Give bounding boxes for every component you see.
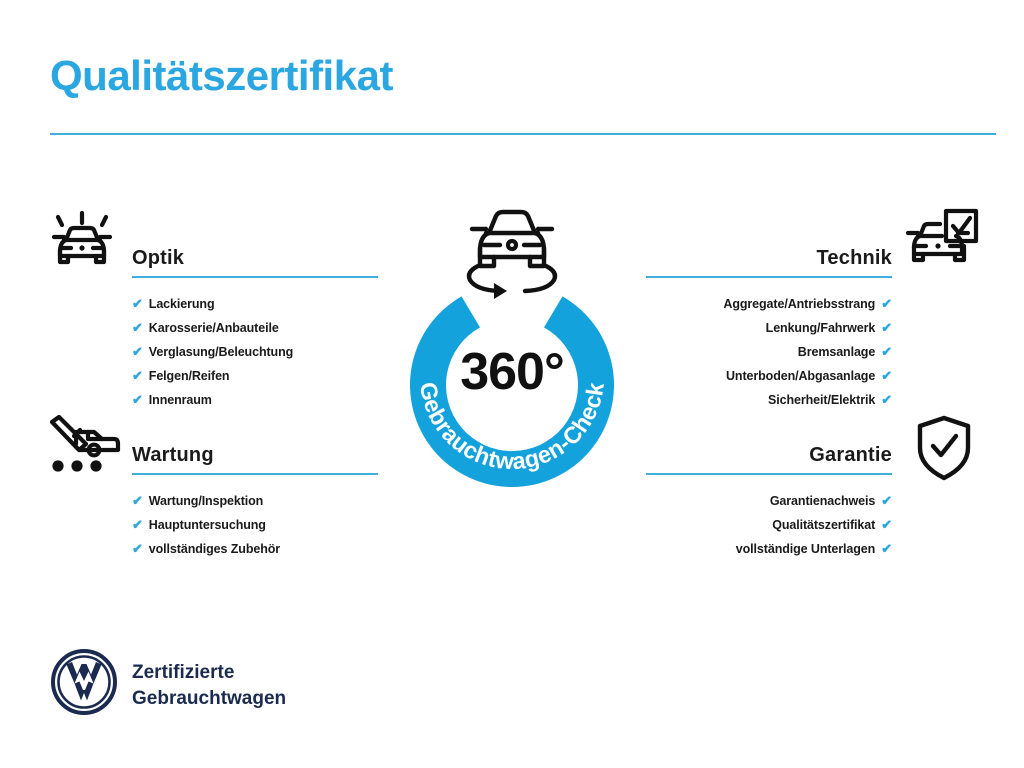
section-heading: Technik <box>817 247 893 270</box>
car-shine-icon <box>46 206 118 283</box>
section-divider <box>132 473 378 475</box>
check-icon: ✔ <box>881 296 892 311</box>
check-icon: ✔ <box>132 541 143 556</box>
volkswagen-logo <box>50 648 118 716</box>
brand-text: Zertifizierte Gebrauchtwagen <box>132 660 286 712</box>
check-icon: ✔ <box>881 517 892 532</box>
list-item-label: Garantienachweis <box>770 494 875 508</box>
list-item-label: Innenraum <box>149 393 212 407</box>
section-heading: Garantie <box>809 444 892 467</box>
check-icon: ✔ <box>132 296 143 311</box>
list-item-label: Qualitätszertifikat <box>772 518 875 532</box>
section-header: Optik <box>132 240 378 270</box>
list-item: Qualitätszertifikat✔ <box>646 513 892 537</box>
list-item-label: Wartung/Inspektion <box>149 494 263 508</box>
section-heading: Optik <box>132 247 184 270</box>
check-icon: ✔ <box>881 368 892 383</box>
section-divider <box>132 276 378 278</box>
list-item: ✔Hauptuntersuchung <box>132 513 378 537</box>
list-item-label: Verglasung/Beleuchtung <box>149 345 293 359</box>
section-header: Wartung <box>132 437 378 467</box>
brand-line-2: Gebrauchtwagen <box>132 686 286 712</box>
section-optik: Optik ✔Lackierung ✔Karosserie/Anbauteile… <box>132 240 378 412</box>
section-divider <box>646 473 892 475</box>
list-item: ✔Verglasung/Beleuchtung <box>132 340 378 364</box>
check-icon: ✔ <box>132 517 143 532</box>
list-item-label: Lackierung <box>149 297 215 311</box>
list-item: ✔Lackierung <box>132 292 378 316</box>
list-item: ✔Innenraum <box>132 388 378 412</box>
360-check-badge: Gebrauchtwagen-Check 360° <box>382 196 642 496</box>
section-header: Garantie <box>646 437 892 467</box>
check-icon: ✔ <box>132 392 143 407</box>
list-item: Sicherheit/Elektrik✔ <box>646 388 892 412</box>
list-item-label: Felgen/Reifen <box>149 369 230 383</box>
shield-check-icon <box>914 414 974 487</box>
list-item-label: vollständiges Zubehör <box>149 542 280 556</box>
check-icon: ✔ <box>881 493 892 508</box>
brand-line-1: Zertifizierte <box>132 660 286 686</box>
list-item: vollständige Unterlagen✔ <box>646 537 892 561</box>
list-item-label: Sicherheit/Elektrik <box>768 393 875 407</box>
car-checkbox-icon <box>906 208 980 279</box>
list-item: Garantienachweis✔ <box>646 489 892 513</box>
list-item: Unterboden/Abgasanlage✔ <box>646 364 892 388</box>
check-icon: ✔ <box>881 541 892 556</box>
list-item-label: Bremsanlage <box>798 345 875 359</box>
check-icon: ✔ <box>881 320 892 335</box>
check-icon: ✔ <box>881 344 892 359</box>
section-divider <box>646 276 892 278</box>
list-item-label: Karosserie/Anbauteile <box>149 321 279 335</box>
list-item: ✔Wartung/Inspektion <box>132 489 378 513</box>
list-item-label: Hauptuntersuchung <box>149 518 266 532</box>
list-item: Aggregate/Antriebsstrang✔ <box>646 292 892 316</box>
section-header: Technik <box>646 240 892 270</box>
list-item-label: Aggregate/Antriebsstrang <box>723 297 875 311</box>
check-icon: ✔ <box>132 320 143 335</box>
certificate-page: Qualitätszertifikat <box>0 0 1024 768</box>
list-item-label: Lenkung/Fahrwerk <box>766 321 876 335</box>
checklist: ✔Lackierung ✔Karosserie/Anbauteile ✔Verg… <box>132 292 378 412</box>
list-item: ✔Felgen/Reifen <box>132 364 378 388</box>
section-heading: Wartung <box>132 444 214 467</box>
badge-degrees: 360° <box>382 342 642 402</box>
car-service-dipstick-icon <box>46 414 124 481</box>
list-item-label: vollständige Unterlagen <box>736 542 875 556</box>
car-rotation-icon <box>454 196 570 300</box>
check-icon: ✔ <box>132 344 143 359</box>
checklist: Aggregate/Antriebsstrang✔ Lenkung/Fahrwe… <box>646 292 892 412</box>
checklist: ✔Wartung/Inspektion ✔Hauptuntersuchung ✔… <box>132 489 378 561</box>
section-wartung: Wartung ✔Wartung/Inspektion ✔Hauptunters… <box>132 437 378 561</box>
section-technik: Technik Aggregate/Antriebsstrang✔ Lenkun… <box>646 240 892 412</box>
list-item-label: Unterboden/Abgasanlage <box>726 369 875 383</box>
title-divider <box>50 133 996 135</box>
list-item: ✔Karosserie/Anbauteile <box>132 316 378 340</box>
list-item: Lenkung/Fahrwerk✔ <box>646 316 892 340</box>
list-item: Bremsanlage✔ <box>646 340 892 364</box>
checklist: Garantienachweis✔ Qualitätszertifikat✔ v… <box>646 489 892 561</box>
check-icon: ✔ <box>881 392 892 407</box>
check-icon: ✔ <box>132 368 143 383</box>
check-icon: ✔ <box>132 493 143 508</box>
list-item: ✔vollständiges Zubehör <box>132 537 378 561</box>
page-title: Qualitätszertifikat <box>50 52 393 100</box>
section-garantie: Garantie Garantienachweis✔ Qualitätszert… <box>646 437 892 561</box>
